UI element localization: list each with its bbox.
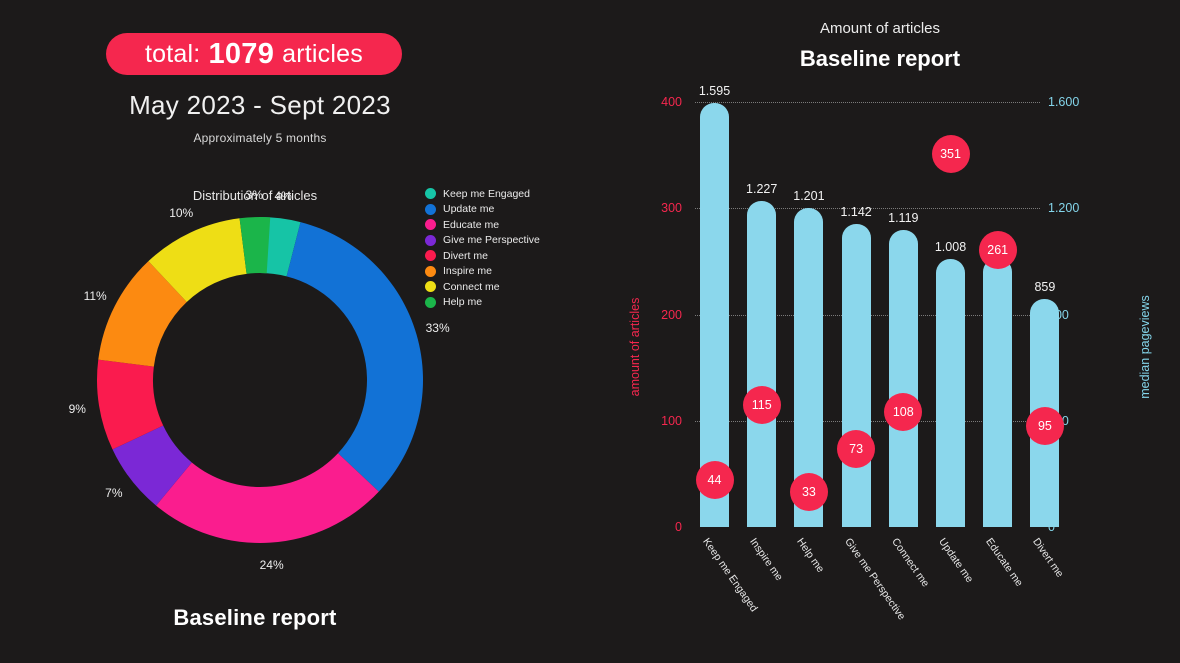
legend-color-swatch: [425, 204, 436, 215]
right-axis-title: median pageviews: [1138, 262, 1152, 432]
bar-value-label: 1.595: [699, 84, 730, 98]
left-axis-tick-label: 400: [620, 95, 682, 109]
data-bubble[interactable]: 73: [837, 430, 875, 468]
left-axis-tick-label: 300: [620, 201, 682, 215]
legend-item[interactable]: Divert me: [425, 248, 595, 264]
legend-color-swatch: [425, 250, 436, 261]
right-axis-tick-label: 1.600: [1048, 95, 1110, 109]
legend-item-label: Educate me: [443, 219, 499, 231]
bar-value-label: 1.227: [746, 182, 777, 196]
legend-item[interactable]: Help me: [425, 295, 595, 311]
x-axis-label: Divert me: [1031, 536, 1067, 580]
donut-slice[interactable]: [156, 453, 379, 543]
legend-item-label: Update me: [443, 203, 494, 215]
bar-value-label: 1.119: [888, 211, 918, 225]
legend-item-label: Connect me: [443, 281, 500, 293]
x-axis-label: Update me: [936, 536, 975, 585]
bar-value-label: 1.201: [793, 189, 824, 203]
duration-note: Approximately 5 months: [0, 131, 520, 145]
donut-slice[interactable]: [287, 222, 423, 491]
right-panel: Amount of articles Baseline report 01002…: [600, 0, 1180, 663]
data-bubble[interactable]: 44: [696, 461, 734, 499]
donut-percent-label: 7%: [105, 486, 122, 500]
total-suffix-label: articles: [282, 40, 363, 69]
bar-value-label: 859: [1034, 280, 1055, 294]
x-axis-label: Help me: [795, 536, 827, 575]
legend-item-label: Give me Perspective: [443, 234, 540, 246]
donut-chart: 4%33%24%7%9%11%10%3%: [75, 195, 445, 565]
legend-color-swatch: [425, 266, 436, 277]
legend-item[interactable]: Connect me: [425, 279, 595, 295]
donut-percent-label: 9%: [69, 402, 86, 416]
bar[interactable]: [747, 201, 776, 527]
donut-percent-label: 33%: [426, 321, 450, 335]
x-axis-label: Inspire me: [747, 536, 785, 583]
data-bubble[interactable]: 261: [979, 231, 1017, 269]
legend-color-swatch: [425, 219, 436, 230]
bar[interactable]: [889, 230, 918, 527]
report-footer-title: Baseline report: [0, 605, 510, 631]
legend-item[interactable]: Give me Perspective: [425, 233, 595, 249]
date-range-label: May 2023 - Sept 2023: [0, 90, 520, 121]
data-bubble[interactable]: 108: [884, 393, 922, 431]
data-bubble[interactable]: 95: [1026, 407, 1064, 445]
legend-color-swatch: [425, 235, 436, 246]
legend-item-label: Inspire me: [443, 265, 492, 277]
donut-slice-group: [97, 217, 423, 543]
legend-color-swatch: [425, 297, 436, 308]
bar[interactable]: [983, 258, 1012, 527]
bar[interactable]: [842, 224, 871, 527]
donut-percent-label: 3%: [246, 188, 263, 202]
gridline: [695, 102, 1040, 103]
right-axis-tick-label: 1.200: [1048, 201, 1110, 215]
total-prefix-label: total:: [145, 40, 200, 69]
legend-item[interactable]: Keep me Engaged: [425, 186, 595, 202]
infographic-canvas: total: 1079 articles May 2023 - Sept 202…: [0, 0, 1180, 663]
bar[interactable]: [936, 259, 965, 527]
legend-item[interactable]: Inspire me: [425, 264, 595, 280]
donut-percent-label: 4%: [275, 189, 292, 203]
x-axis-label: Educate me: [983, 536, 1025, 589]
data-bubble[interactable]: 351: [932, 135, 970, 173]
data-bubble[interactable]: 115: [743, 386, 781, 424]
bar-chart-plot: 0100200300400 04008001.2001.600 amount o…: [600, 0, 1180, 663]
donut-percent-label: 11%: [84, 289, 107, 303]
total-articles-badge: total: 1079 articles: [106, 33, 402, 75]
donut-legend: Keep me EngagedUpdate meEducate meGive m…: [425, 186, 595, 310]
legend-item-label: Help me: [443, 296, 482, 308]
legend-color-swatch: [425, 188, 436, 199]
legend-item-label: Divert me: [443, 250, 488, 262]
donut-svg: [75, 195, 445, 565]
legend-item-label: Keep me Engaged: [443, 188, 530, 200]
legend-item[interactable]: Update me: [425, 202, 595, 218]
donut-percent-label: 10%: [169, 206, 193, 220]
left-axis-title: amount of articles: [628, 267, 642, 427]
legend-item[interactable]: Educate me: [425, 217, 595, 233]
data-bubble[interactable]: 33: [790, 473, 828, 511]
left-panel: total: 1079 articles May 2023 - Sept 202…: [0, 0, 600, 663]
x-axis-label: Connect me: [889, 536, 931, 589]
bar-value-label: 1.142: [840, 205, 871, 219]
donut-percent-label: 24%: [260, 558, 284, 572]
bar-value-label: 1.008: [935, 240, 966, 254]
total-value: 1079: [208, 38, 274, 71]
left-axis-tick-label: 0: [620, 520, 682, 534]
legend-color-swatch: [425, 281, 436, 292]
